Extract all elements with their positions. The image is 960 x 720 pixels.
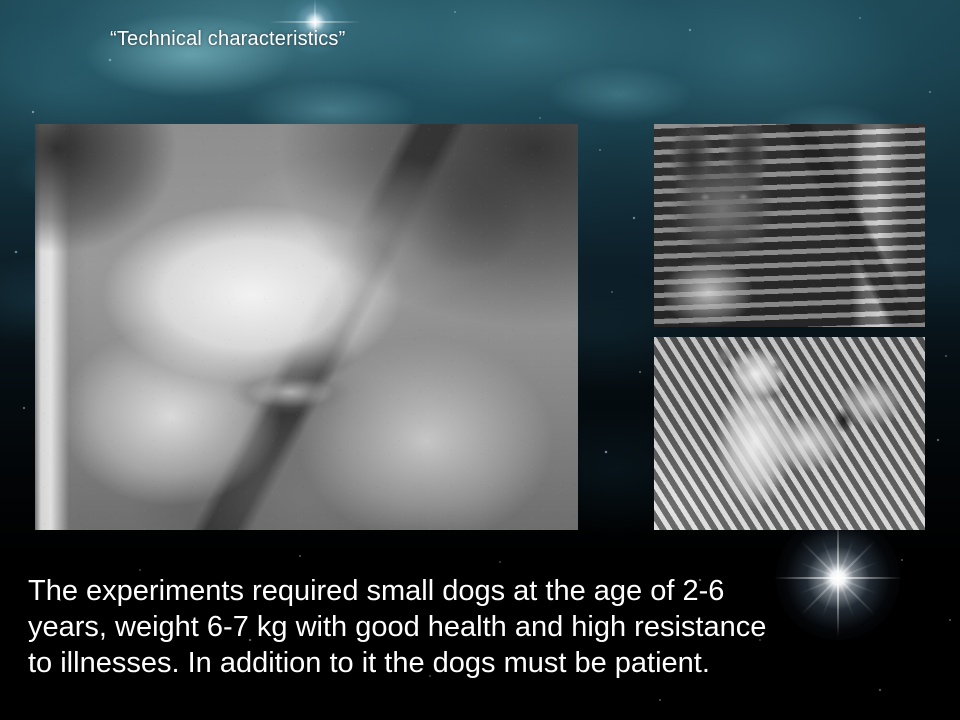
slide-title: “Technical characteristics”: [110, 27, 345, 51]
photo-image-content: [654, 124, 925, 327]
presentation-slide: “Technical characteristics” The experime…: [0, 0, 960, 720]
photo-image-content: [35, 124, 578, 530]
photo-image-content: [654, 337, 925, 530]
photo-dog-head-closeup: [35, 124, 578, 530]
slide-body-text: The experiments required small dogs at t…: [28, 573, 918, 681]
photo-small-dog-held: [654, 337, 925, 530]
body-text-line: The experiments required small dogs at t…: [28, 573, 918, 609]
photo-puppy-in-facility: [654, 124, 925, 327]
body-text-line: to illnesses. In addition to it the dogs…: [28, 645, 918, 681]
body-text-line: years, weight 6-7 kg with good health an…: [28, 609, 918, 645]
